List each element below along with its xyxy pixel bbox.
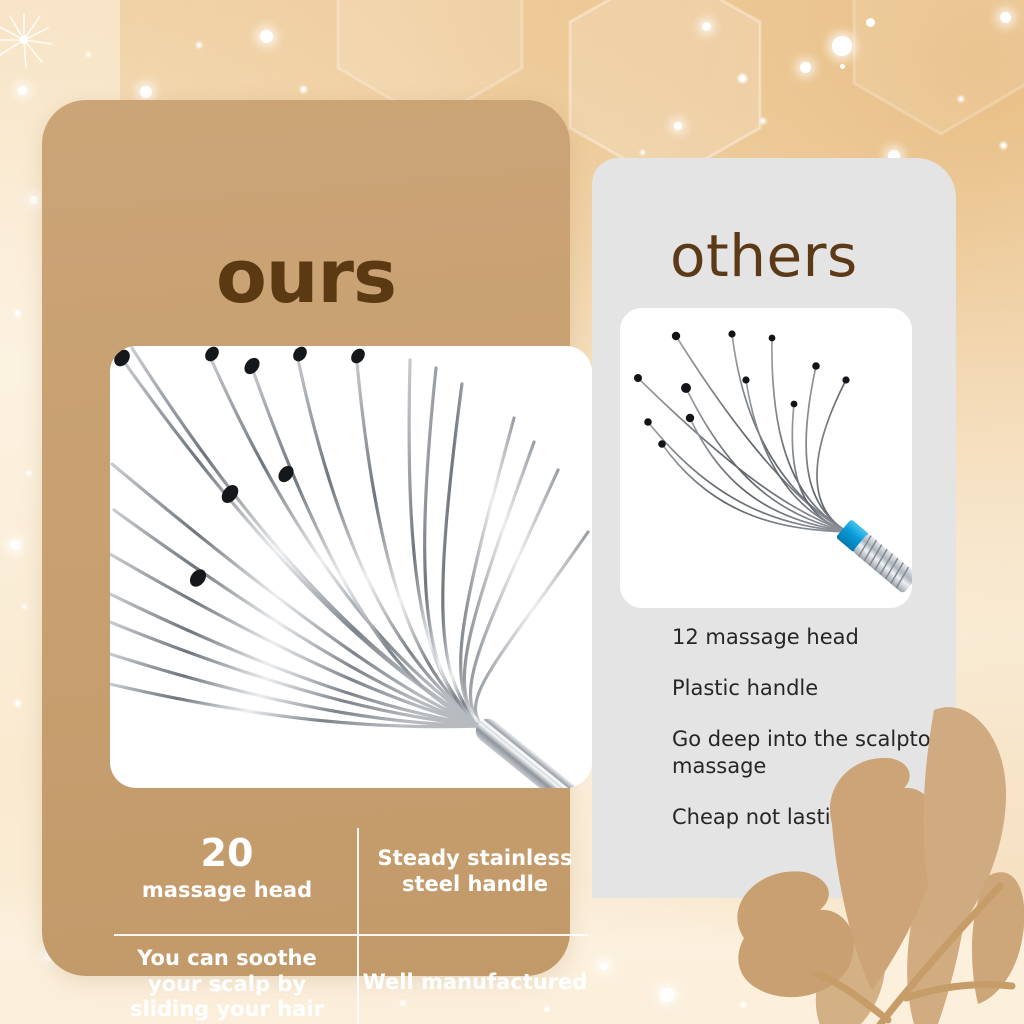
feature-cell-manufactured: Well manufactured <box>362 970 588 996</box>
ours-feature-grid: 20 massage head Steady stainless steel h… <box>114 824 588 1024</box>
feature-label: Well manufactured <box>362 970 588 996</box>
feature-label: massage head <box>114 878 340 904</box>
feature-cell-massage-head: 20 massage head <box>114 834 340 904</box>
grid-divider-vertical <box>357 828 359 1024</box>
grid-divider-horizontal <box>114 934 588 936</box>
list-item: Cheap not lasting <box>672 804 938 831</box>
others-massager-illustration <box>620 308 912 608</box>
feature-label: Steady stainless steel handle <box>362 846 588 897</box>
others-title: others <box>670 222 858 290</box>
ours-title: ours <box>42 234 570 320</box>
list-item: 12 massage head <box>672 624 938 651</box>
list-item: Go deep into the scalpto massage <box>672 726 938 780</box>
others-feature-list: 12 massage head Plastic handle Go deep i… <box>672 624 938 854</box>
ours-massager-illustration <box>110 346 592 788</box>
list-item: Plastic handle <box>672 675 938 702</box>
ours-product-image <box>110 346 592 788</box>
comparison-infographic: others <box>0 0 1024 1024</box>
others-product-image <box>620 308 912 608</box>
feature-count: 20 <box>114 834 340 874</box>
feature-label: You can soothe your scalp by sliding you… <box>114 946 340 1023</box>
feature-cell-soothe: You can soothe your scalp by sliding you… <box>114 946 340 1023</box>
ours-card: ours <box>42 100 570 976</box>
feature-cell-handle: Steady stainless steel handle <box>362 846 588 897</box>
